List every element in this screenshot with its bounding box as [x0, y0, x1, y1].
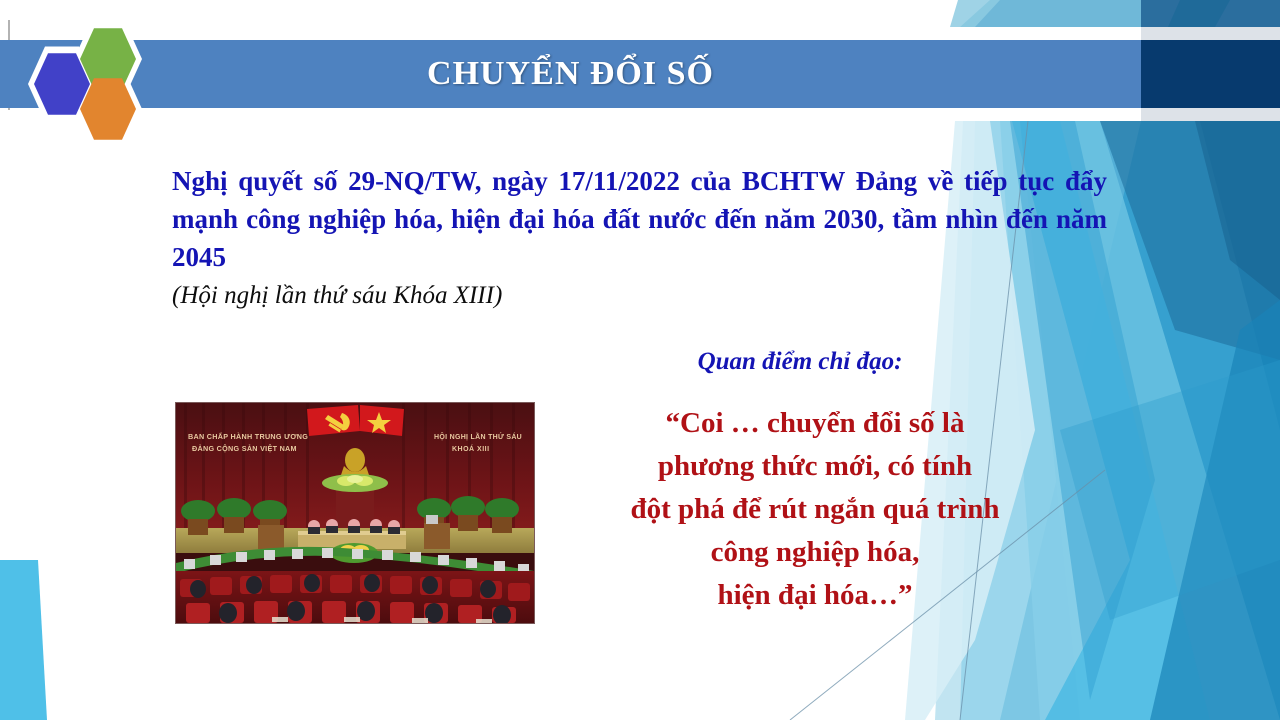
- top-steel-band: [1141, 0, 1280, 27]
- photo-caption-left-line2: ĐẢNG CỘNG SẢN VIỆT NAM: [192, 444, 297, 453]
- header-grey-band-top: [1141, 27, 1280, 40]
- quote-block: “Coi … chuyển đổi số là phương thức mới,…: [570, 402, 1060, 617]
- hexagon-logo: [22, 18, 172, 128]
- top-sky-band-light: [950, 0, 1000, 27]
- quote-line: phương thức mới, có tính: [570, 445, 1060, 488]
- viewpoint-label: Quan điểm chỉ đạo:: [560, 348, 1040, 376]
- slide-canvas: CHUYỂN ĐỔI SỐ Nghị quyết số 29-NQ/TW, ng…: [0, 0, 1280, 720]
- quote-line: hiện đại hóa…”: [570, 574, 1060, 617]
- quote-line: công nghiệp hóa,: [570, 531, 1060, 574]
- quote-line: đột phá để rút ngắn quá trình: [570, 488, 1060, 531]
- conference-hall-photo: BAN CHẤP HÀNH TRUNG ƯƠNG ĐẢNG CỘNG SẢN V…: [176, 403, 534, 623]
- header-accent-block: [1141, 40, 1280, 108]
- heading-block: Nghị quyết số 29-NQ/TW, ngày 17/11/2022 …: [172, 162, 1107, 314]
- bottom-left-wedge: [0, 560, 47, 720]
- top-navy-sliver: [1168, 0, 1230, 27]
- photo-caption-left-line1: BAN CHẤP HÀNH TRUNG ƯƠNG: [188, 431, 308, 441]
- resolution-subheading: (Hội nghị lần thứ sáu Khóa XIII): [172, 278, 1107, 314]
- photo-illustration: BAN CHẤP HÀNH TRUNG ƯƠNG ĐẢNG CỘNG SẢN V…: [176, 403, 534, 623]
- photo-caption-right-line2: KHOÁ XIII: [452, 444, 490, 453]
- top-sky-band: [960, 0, 1141, 27]
- quote-line: “Coi … chuyển đổi số là: [570, 402, 1060, 445]
- resolution-heading: Nghị quyết số 29-NQ/TW, ngày 17/11/2022 …: [172, 162, 1107, 276]
- header-grey-band-bottom: [1141, 108, 1280, 121]
